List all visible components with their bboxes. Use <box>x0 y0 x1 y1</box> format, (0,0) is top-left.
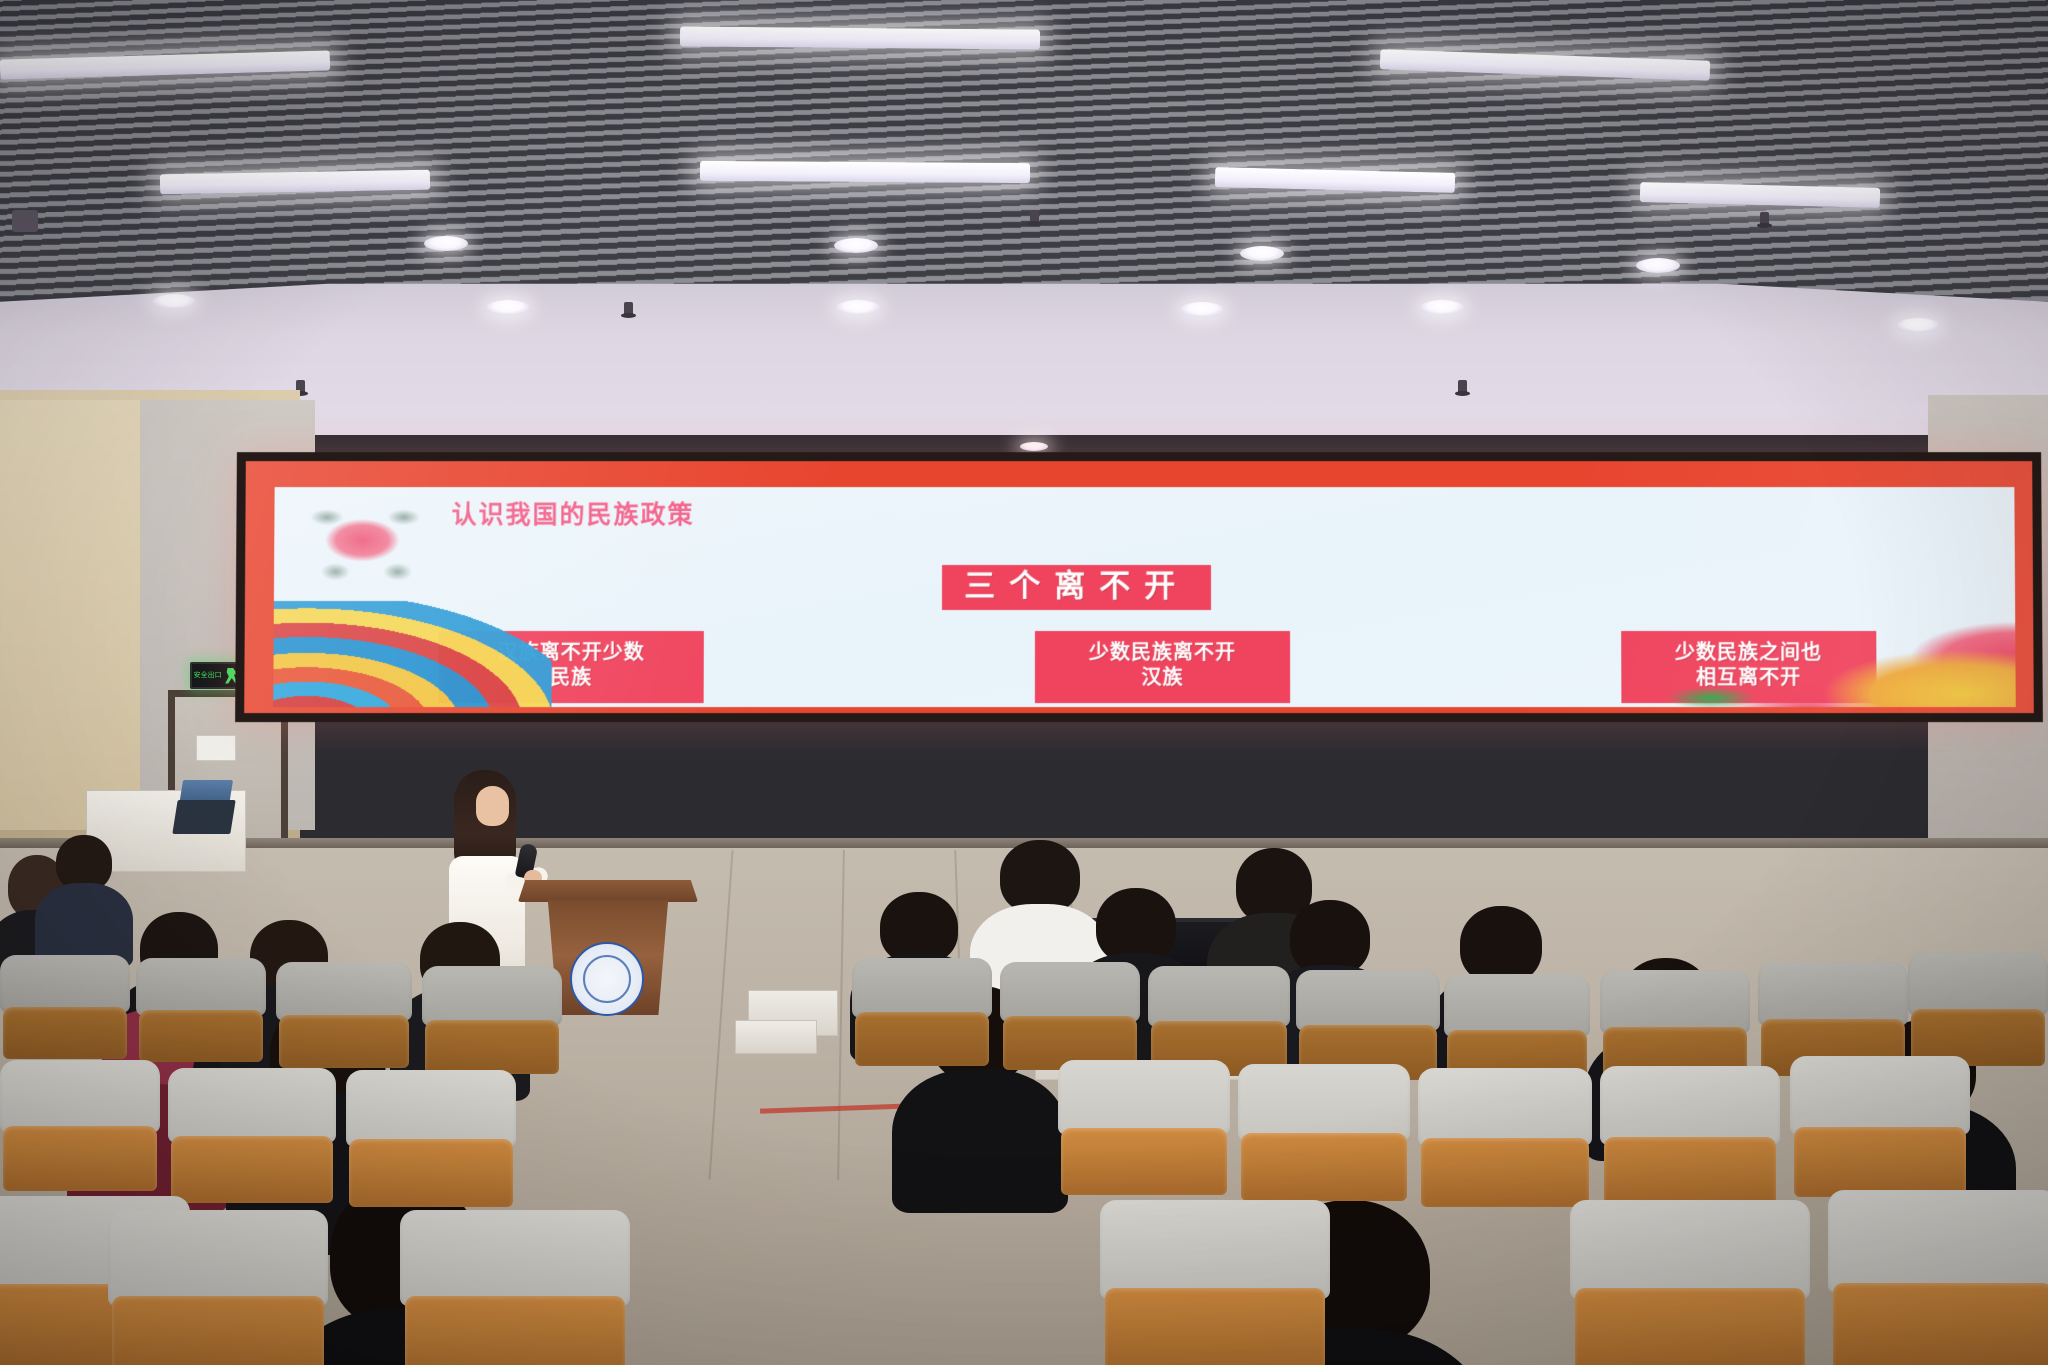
seat-back <box>1296 970 1440 1031</box>
ceiling-light-panel-2 <box>680 26 1040 49</box>
seat-wood-panel <box>1794 1127 1967 1198</box>
seat-wood-panel <box>1833 1283 2048 1365</box>
sprinkler-2 <box>624 302 633 317</box>
downlight-8 <box>1180 302 1224 317</box>
door-notice-sign <box>196 735 236 761</box>
auditorium-seat[interactable] <box>136 958 266 1058</box>
rainbow-arc-decoration-icon <box>273 601 552 706</box>
lecture-hall-photo: 安全出口 EXIT 认识我国的民族政策 三个离不开 汉族离不开少数 民族 <box>0 0 2048 1365</box>
seat-back <box>1058 1060 1230 1135</box>
auditorium-seat[interactable] <box>1058 1060 1230 1190</box>
seat-back <box>136 958 266 1016</box>
auditorium-seat[interactable] <box>1100 1200 1330 1365</box>
seat-wood-panel <box>1575 1288 1805 1365</box>
downlight-3 <box>1240 246 1284 261</box>
laptop-base <box>172 800 235 834</box>
seat-wood-panel <box>279 1015 410 1068</box>
downlight-5 <box>152 294 196 309</box>
seat-back <box>1908 952 2048 1016</box>
auditorium-seat[interactable] <box>168 1068 336 1198</box>
auditorium-seat[interactable] <box>1600 970 1750 1080</box>
seat-wood-panel <box>349 1139 512 1208</box>
seat-back <box>276 962 412 1021</box>
seat-wood-panel <box>1421 1138 1588 1208</box>
seat-back <box>1418 1068 1592 1146</box>
front-desk-left-2 <box>735 1020 817 1054</box>
seat-wood-panel <box>1061 1128 1226 1196</box>
seat-wood-panel <box>1105 1288 1326 1365</box>
seat-wood-panel <box>3 1126 157 1192</box>
downlight-12 <box>1020 442 1048 451</box>
auditorium-seat[interactable] <box>852 958 992 1062</box>
seat-wood-panel <box>171 1136 332 1204</box>
audience-member-row2-a <box>880 892 958 964</box>
auditorium-seat[interactable] <box>0 955 130 1055</box>
seat-back <box>168 1068 336 1143</box>
seat-back <box>108 1210 328 1306</box>
downlight-4 <box>1636 258 1680 273</box>
slide-headline-banner: 三个离不开 <box>942 565 1211 610</box>
downlight-9 <box>1420 300 1464 315</box>
audience-member-far-left-2 <box>56 835 112 891</box>
audience-member-row2-b <box>1096 888 1176 964</box>
seat-wood-panel <box>139 1010 264 1062</box>
seat-back <box>1148 966 1290 1027</box>
seat-wood-panel <box>112 1296 323 1365</box>
floor-seam <box>837 850 845 1180</box>
seat-back <box>1600 1066 1780 1145</box>
auditorium-seat[interactable] <box>276 962 412 1064</box>
downlight-10 <box>1896 318 1940 333</box>
downlight-2 <box>834 238 878 253</box>
seat-wood-panel <box>1604 1137 1777 1208</box>
presentation-slide: 认识我国的民族政策 三个离不开 汉族离不开少数 民族 少数民族离不开 汉族 少数… <box>244 461 2034 713</box>
auditorium-seat[interactable] <box>422 966 562 1070</box>
auditorium-seat[interactable] <box>1238 1064 1410 1196</box>
auditorium-seat[interactable] <box>1600 1066 1780 1202</box>
seat-back <box>346 1070 516 1147</box>
slide-card-2-line2: 汉族 <box>1049 666 1276 691</box>
seat-back <box>0 1060 160 1133</box>
podium-top-surface <box>518 880 698 902</box>
auditorium-seat[interactable] <box>0 1060 160 1186</box>
slide-card-2: 少数民族离不开 汉族 <box>1035 631 1290 703</box>
exit-sign-chinese-label: 安全出口 <box>194 672 222 679</box>
sprinkler-4 <box>1458 380 1467 395</box>
presenter-face <box>476 786 509 826</box>
seat-back <box>400 1210 630 1306</box>
downlight-7 <box>836 300 880 315</box>
auditorium-seat[interactable] <box>1148 966 1290 1072</box>
slide-card-2-line1: 少数民族离不开 <box>1049 641 1276 666</box>
audience-member-row2-c <box>1290 900 1370 976</box>
slide-content-area: 认识我国的民族政策 三个离不开 汉族离不开少数 民族 少数民族离不开 汉族 少数… <box>273 488 2016 707</box>
seat-back <box>422 966 562 1026</box>
led-display-screen[interactable]: 认识我国的民族政策 三个离不开 汉族离不开少数 民族 少数民族离不开 汉族 少数… <box>235 452 2043 722</box>
sprinkler-3 <box>1030 210 1039 225</box>
seat-back <box>1758 962 1908 1026</box>
auditorium-seat[interactable] <box>1444 974 1590 1082</box>
audience-member-row2-d <box>1460 906 1542 984</box>
seat-back <box>852 958 992 1018</box>
downlight-1 <box>424 236 468 251</box>
seat-back <box>1000 962 1140 1022</box>
seat-wood-panel <box>425 1020 559 1074</box>
auditorium-seat[interactable] <box>1296 970 1440 1076</box>
seat-back <box>1444 974 1590 1037</box>
head <box>1000 840 1080 914</box>
auditorium-seat[interactable] <box>108 1210 328 1365</box>
ceiling-light-panel-5 <box>700 161 1030 183</box>
seat-back <box>1238 1064 1410 1141</box>
seat-back <box>1570 1200 1810 1299</box>
wall-panel-wood <box>0 400 145 830</box>
auditorium-seat[interactable] <box>1908 952 2048 1062</box>
seat-back <box>1100 1200 1330 1299</box>
auditorium-seat[interactable] <box>346 1070 516 1202</box>
auditorium-seat[interactable] <box>1790 1056 1970 1192</box>
slide-headline-text: 三个离不开 <box>964 570 1189 603</box>
auditorium-seat[interactable] <box>1000 962 1140 1066</box>
sprinkler-5 <box>1760 212 1769 227</box>
peony-decoration-icon <box>1615 593 2016 707</box>
seat-wood-panel <box>405 1296 626 1365</box>
slide-title: 认识我国的民族政策 <box>452 495 695 531</box>
ceiling-speaker <box>12 210 38 232</box>
audience-member-mid-right-a <box>1000 840 1080 914</box>
floor-seam <box>708 850 733 1179</box>
seat-back <box>1600 970 1750 1034</box>
auditorium-seat[interactable] <box>1418 1068 1592 1202</box>
seat-back <box>0 955 130 1013</box>
shoulders <box>892 1069 1068 1213</box>
auditorium-seat[interactable] <box>1570 1200 1810 1365</box>
seat-wood-panel <box>1241 1133 1406 1202</box>
auditorium-seat[interactable] <box>1828 1190 2048 1365</box>
auditorium-seat[interactable] <box>400 1210 630 1365</box>
floral-decoration-icon <box>291 492 440 597</box>
seat-wood-panel <box>855 1012 989 1066</box>
seat-back <box>1828 1190 2048 1293</box>
seat-wood-panel <box>3 1007 128 1059</box>
downlight-6 <box>486 300 530 315</box>
university-crest-icon <box>570 942 644 1016</box>
seat-back <box>1790 1056 1970 1135</box>
